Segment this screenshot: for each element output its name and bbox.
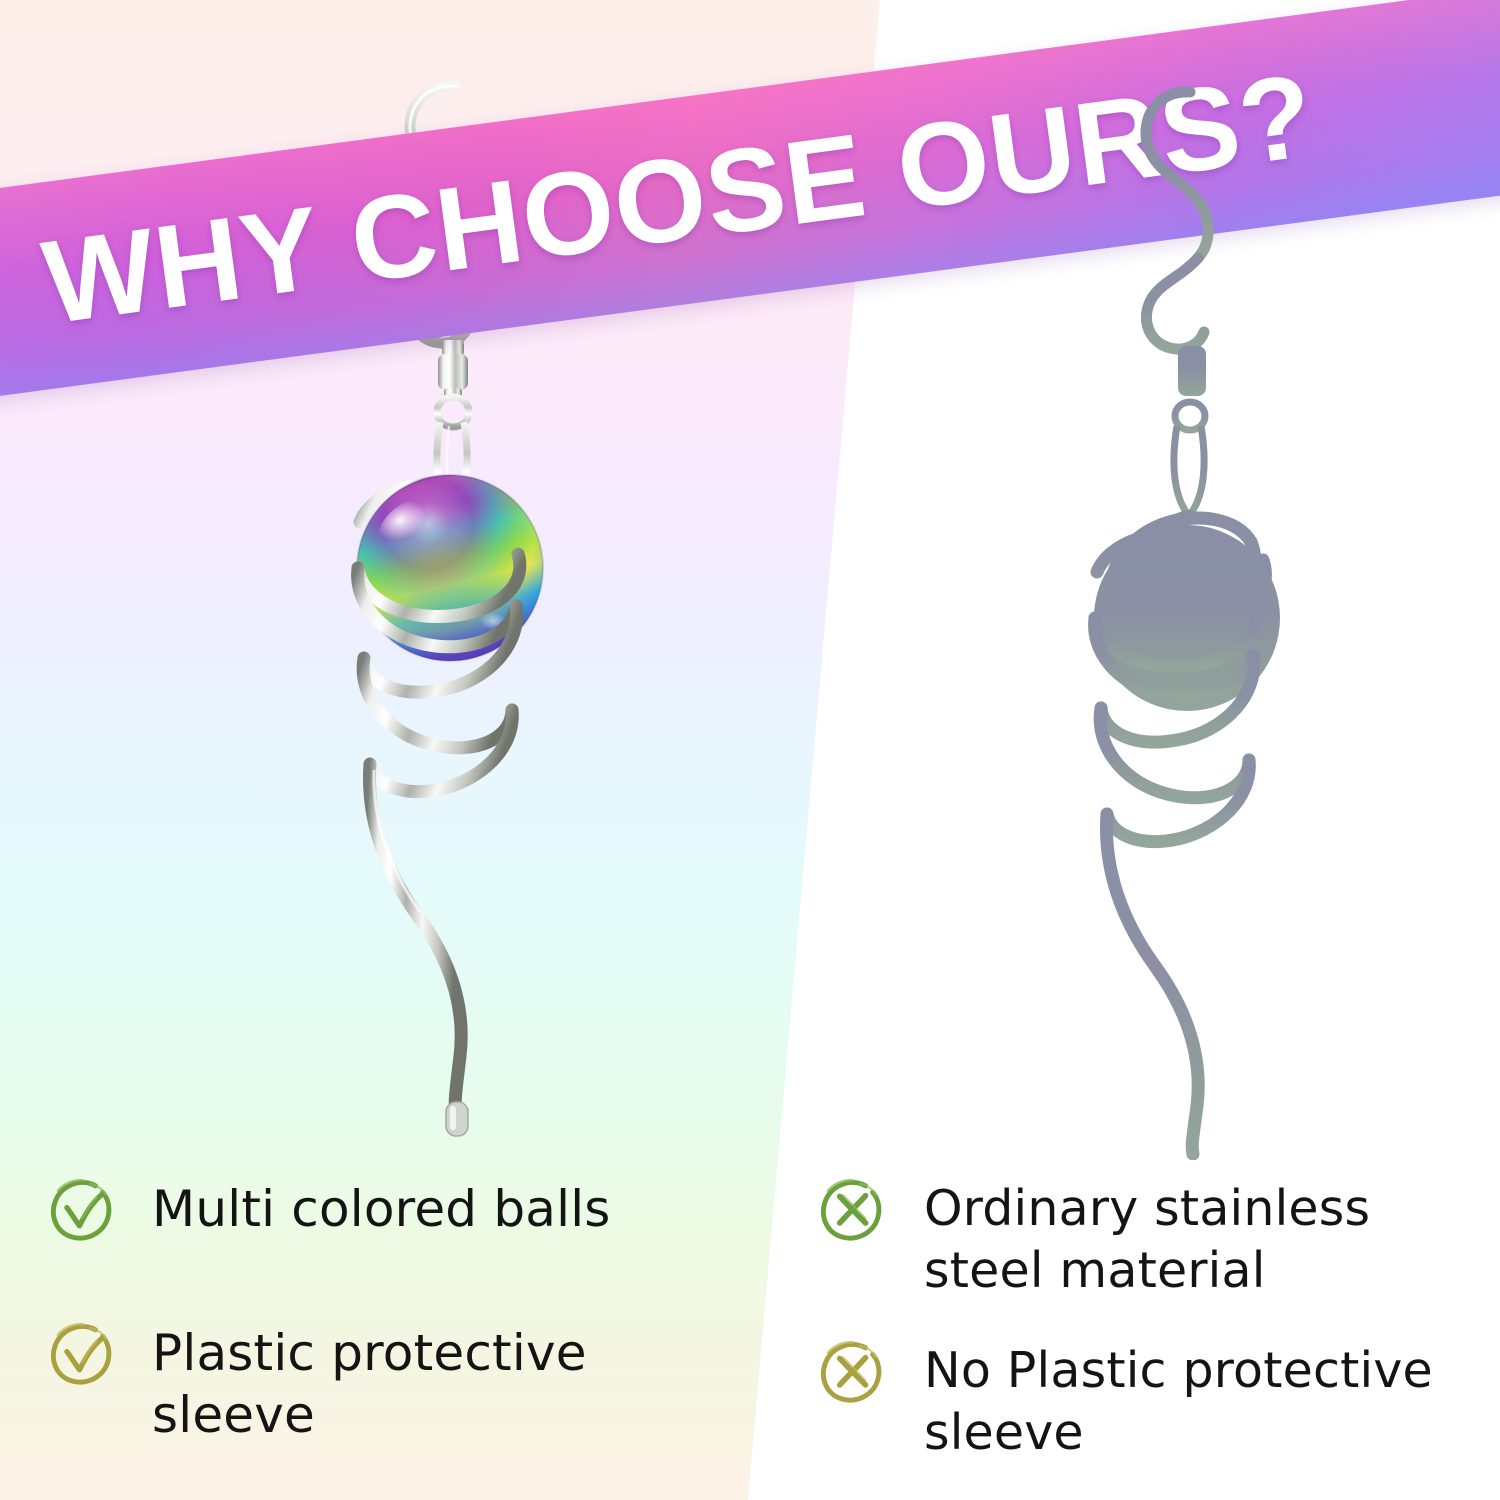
list-item: No Plastic protective sleeve bbox=[818, 1340, 1468, 1464]
list-item: Ordinary stainless steel material bbox=[818, 1178, 1468, 1302]
infographic-canvas: WHY CHOOSE OURS? bbox=[0, 0, 1500, 1500]
list-item-label: Multi colored balls bbox=[152, 1178, 611, 1240]
pros-list: Multi colored balls Plastic protective s… bbox=[48, 1178, 728, 1500]
check-circle-icon bbox=[48, 1174, 118, 1244]
list-item: Plastic protective sleeve bbox=[48, 1322, 728, 1446]
list-item-label: Ordinary stainless steel material bbox=[924, 1178, 1468, 1302]
cross-circle-icon bbox=[818, 1174, 888, 1244]
check-circle-icon bbox=[48, 1318, 118, 1388]
cross-circle-icon bbox=[818, 1336, 888, 1406]
list-item-label: No Plastic protective sleeve bbox=[924, 1340, 1468, 1464]
cons-list: Ordinary stainless steel material No Pla… bbox=[818, 1178, 1468, 1500]
list-item: Multi colored balls bbox=[48, 1178, 728, 1244]
list-item-label: Plastic protective sleeve bbox=[152, 1322, 728, 1446]
